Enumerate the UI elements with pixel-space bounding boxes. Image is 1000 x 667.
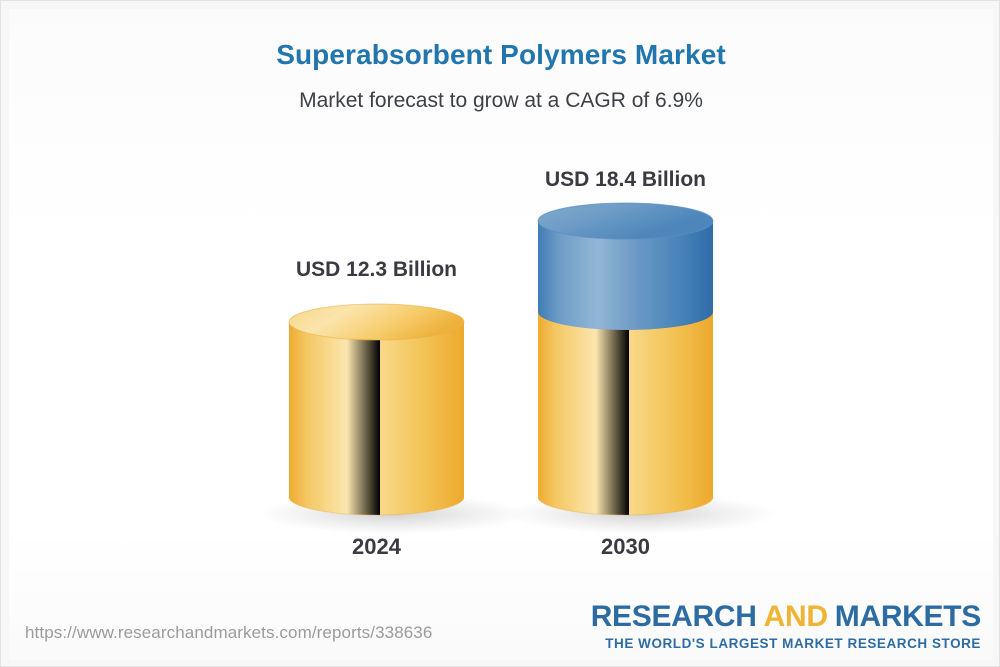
bar-2030-segment-base (538, 312, 713, 515)
bar-2024-category-label: 2024 (289, 534, 464, 560)
research-and-markets-logo[interactable]: RESEARCHANDMARKETS THE WORLD'S LARGEST M… (591, 601, 981, 651)
bar-2030-value-label: USD 18.4 Billion (538, 168, 713, 192)
bar-2024 (258, 304, 528, 534)
bar-2030-category-label: 2030 (538, 534, 713, 560)
bar-2030-top (538, 203, 713, 239)
bar-2024-body (289, 322, 464, 515)
report-url[interactable]: https://www.researchandmarkets.com/repor… (25, 623, 432, 643)
logo-word-markets: MARKETS (835, 600, 981, 633)
bar-chart (1, 1, 1000, 667)
chart-infographic: Superabsorbent Polymers Market Market fo… (0, 0, 1000, 667)
logo-tagline: THE WORLD'S LARGEST MARKET RESEARCH STOR… (591, 636, 981, 651)
logo-word-research: RESEARCH (591, 600, 757, 633)
logo-wordmark: RESEARCHANDMARKETS (591, 601, 981, 633)
logo-word-and: AND (757, 600, 835, 633)
bar-2024-value-label: USD 12.3 Billion (289, 258, 464, 282)
bar-2024-top (289, 304, 464, 340)
bar-2030 (507, 203, 777, 534)
